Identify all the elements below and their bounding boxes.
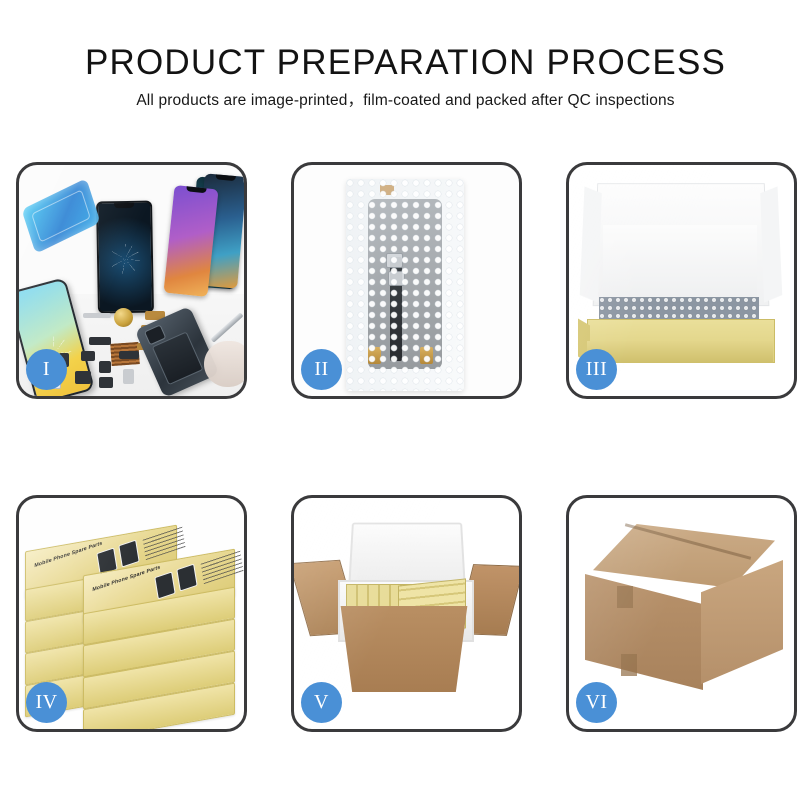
process-step-1: I (16, 162, 247, 399)
small-part (99, 377, 113, 388)
page-header: PRODUCT PREPARATION PROCESS All products… (0, 42, 811, 111)
carton-front-face (585, 574, 703, 690)
step-badge-6: VI (576, 682, 617, 723)
small-part (89, 337, 111, 345)
hand (204, 341, 244, 387)
process-step-4: Mobile Phone Spare Parts Mobile Phone Sp… (16, 495, 247, 732)
page-subtitle: All products are image-printed，film-coat… (0, 91, 811, 111)
bubble-wrap-package (346, 179, 464, 391)
process-step-6: VI (566, 495, 797, 732)
product-preparation-page: PRODUCT PREPARATION PROCESS All products… (0, 0, 811, 811)
step-badge-4: IV (26, 682, 67, 723)
process-step-2: II (291, 162, 522, 399)
carton-body (332, 606, 476, 692)
small-part (123, 369, 134, 384)
process-step-grid: I II (16, 162, 797, 734)
step-badge-1: I (26, 349, 67, 390)
copper-coil-part (114, 308, 133, 327)
page-title: PRODUCT PREPARATION PROCESS (0, 42, 811, 84)
carton-tape (617, 586, 633, 608)
small-part (75, 371, 91, 384)
bubble-texture (346, 179, 464, 391)
notch (114, 203, 134, 208)
box-label-text-lines (201, 550, 244, 584)
screen-protector-film (21, 178, 100, 254)
small-part (83, 313, 111, 318)
box-label: Mobile Phone Spare Parts (34, 540, 103, 569)
small-part (99, 361, 111, 373)
step-badge-2: II (301, 349, 342, 390)
box-label-thumbnail (118, 540, 139, 568)
notch (186, 186, 206, 193)
step-badge-5: V (301, 682, 342, 723)
box-label-thumbnail (154, 571, 175, 599)
notch (215, 174, 235, 181)
small-part (119, 351, 139, 359)
box-label-thumbnail (176, 564, 197, 592)
process-step-5: V (291, 495, 522, 732)
carton-tape (621, 654, 637, 676)
phone-screen-cracked (96, 201, 154, 314)
foam-sheet (603, 225, 757, 297)
step-badge-3: III (576, 349, 617, 390)
crack-pattern (110, 244, 141, 275)
small-part (81, 351, 95, 361)
process-step-3: III (566, 162, 797, 399)
box-label-text-lines (143, 526, 186, 560)
